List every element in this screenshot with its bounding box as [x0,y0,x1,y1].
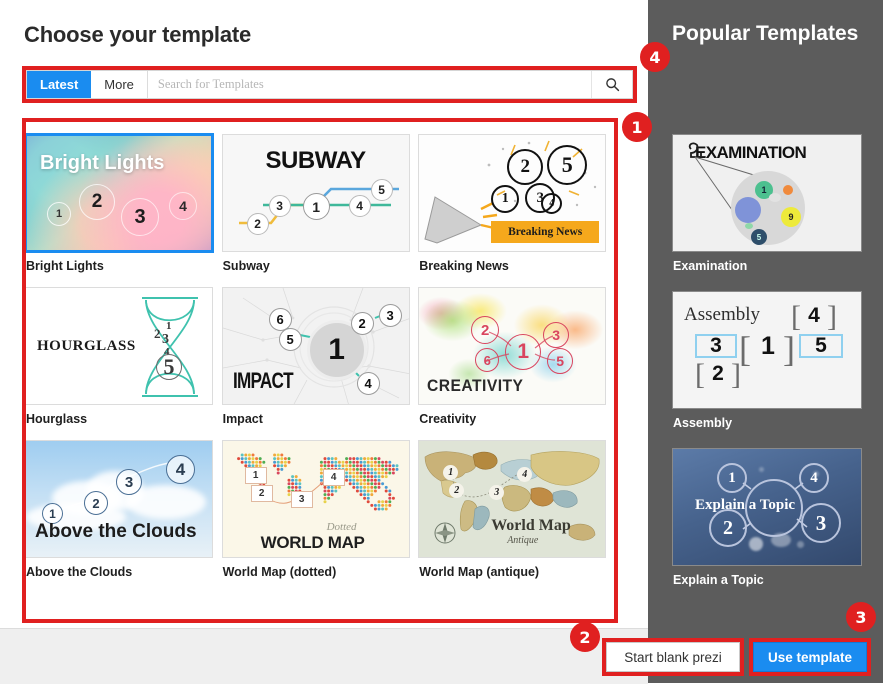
step-number-2: 2 [154,326,161,342]
template-caption: Bright Lights [26,259,214,273]
search-icon [605,77,620,92]
step-number-4: 4 [169,192,197,220]
template-thumbnail[interactable]: 2 1 3 5 6 CREATIVITY [418,287,606,405]
step-number-5: 5 [547,348,573,374]
step-number-1: 1 [166,320,172,332]
tab-more[interactable]: More [91,71,147,98]
template-caption: Creativity [419,412,607,426]
template-thumbnail[interactable]: SUBWAY 3 1 4 5 2 [222,134,410,252]
template-thumbnail[interactable]: 1 2 3 4 Above the Clouds [25,440,213,558]
step-number-3: 3 [695,334,737,358]
specimen-blob-gray [769,193,781,202]
step-number-1: 1 [303,193,330,220]
page-title: Choose your template [24,22,251,48]
art-title: Explain a Topic [695,497,795,514]
art-subtitle: Antique [507,535,538,546]
template-caption: Breaking News [419,259,607,273]
template-caption: Impact [223,412,411,426]
template-row: HOURGLASS 1 2 3 [25,287,615,440]
bracket-left-2: [ [695,358,705,392]
tab-latest[interactable]: Latest [27,71,91,98]
template-thumbnail[interactable]: HOURGLASS 1 2 3 [25,287,213,405]
art-subtitle: Dotted [327,521,357,533]
assembly-art: Assembly [ 4 ] 3 [ 1 ] 5 [ 2 ] [673,292,861,408]
art-title: CREATIVITY [427,376,523,396]
popular-caption: Explain a Topic [673,573,862,587]
specimen-blob-blue [735,197,761,223]
popular-title: Popular Templates [672,22,858,46]
bracket-right-4: ] [827,300,837,334]
step-number-3: 3 [543,322,569,348]
above-the-clouds-art: 1 2 3 4 Above the Clouds [26,441,212,557]
bracket-right-1: ] [783,328,795,370]
step-number-1: 1 [505,334,541,370]
template-thumbnail[interactable]: 1 6 5 2 3 4 IMPACT [222,287,410,405]
impact-art: 1 6 5 2 3 4 IMPACT [223,288,409,404]
template-card-world-map-dotted[interactable]: 1 2 3 4 Dotted WORLD MAP World Map (dott… [222,440,419,593]
world-map-dotted-art: 1 2 3 4 Dotted WORLD MAP [223,441,409,557]
template-card-impact[interactable]: 1 6 5 2 3 4 IMPACT Impact [222,287,419,440]
step-number-1: 1 [755,332,781,360]
search-field-wrap [147,71,632,98]
annotation-badge-3: 3 [846,602,876,632]
template-grid: Bright Lights 1 2 3 4 Bright Lights SUBW… [25,134,615,593]
step-number-9: 9 [781,207,801,227]
specimen-blob-orange [783,185,793,195]
template-caption: Subway [223,259,411,273]
template-caption: World Map (antique) [419,565,607,579]
step-number-4: 4 [799,463,829,493]
template-row: Bright Lights 1 2 3 4 Bright Lights SUBW… [25,134,615,287]
creativity-art: 2 1 3 5 6 CREATIVITY [419,288,605,404]
template-card-breaking-news[interactable]: 2 5 1 3 4 Breaking News Breaking News [418,134,615,287]
step-number-3: 3 [269,195,291,217]
popular-card-explain-a-topic[interactable]: 1 4 2 3 Explain a Topic Explain a Topic [672,448,862,587]
step-number-2: 2 [709,509,747,547]
bracket-right-2: ] [731,358,741,392]
art-title: Bright Lights [40,152,164,175]
step-number-5: 5 [279,328,302,351]
step-number-1: 1 [717,463,747,493]
step-number-5: 5 [156,354,182,380]
hourglass-art: HOURGLASS 1 2 3 [26,288,212,404]
step-number-3: 3 [291,491,313,508]
template-thumbnail[interactable]: 1 2 3 4 Dotted WORLD MAP [222,440,410,558]
template-caption: Hourglass [26,412,214,426]
step-number-2: 2 [471,316,499,344]
template-card-subway[interactable]: SUBWAY 3 1 4 5 2 [222,134,419,287]
search-input[interactable] [148,71,591,98]
step-number-3: 3 [379,304,402,327]
step-number-3: 3 [121,198,159,236]
art-title: World Map [491,517,571,535]
step-number-2: 2 [507,149,543,185]
step-number-2: 2 [709,362,727,386]
step-number-4: 4 [357,372,380,395]
art-title: Assembly [684,304,760,326]
annotation-badge-2: 2 [570,622,600,652]
template-card-above-the-clouds[interactable]: 1 2 3 4 Above the Clouds Above the Cloud… [25,440,222,593]
step-number-2: 2 [84,491,108,515]
step-number-4: 4 [166,455,195,484]
template-thumbnail[interactable]: 1 2 3 4 World Map Antique [418,440,606,558]
step-number-5: 5 [751,229,767,245]
step-number-3: 3 [116,469,142,495]
popular-thumbnail[interactable]: Assembly [ 4 ] 3 [ 1 ] 5 [ 2 ] [672,291,862,409]
popular-list: EXAMINATION 1 9 5 [672,134,862,605]
template-card-world-map-antique[interactable]: 1 2 3 4 World Map Antique World Map (ant… [418,440,615,593]
popular-card-assembly[interactable]: Assembly [ 4 ] 3 [ 1 ] 5 [ 2 ] [672,291,862,430]
step-number-2: 2 [351,312,374,335]
step-number-5: 5 [547,145,587,185]
template-card-hourglass[interactable]: HOURGLASS 1 2 3 [25,287,222,440]
step-number-1: 1 [245,467,267,484]
search-toolbar: Latest More [26,70,633,99]
popular-caption: Examination [673,259,862,273]
art-title: WORLD MAP [261,533,365,553]
template-thumbnail[interactable]: Bright Lights 1 2 3 4 [25,134,213,252]
template-thumbnail[interactable]: 2 5 1 3 4 Breaking News [418,134,606,252]
annotation-badge-1: 1 [622,112,652,142]
step-number-5: 5 [799,334,843,358]
popular-thumbnail[interactable]: EXAMINATION 1 9 5 [672,134,862,252]
popular-caption: Assembly [673,416,862,430]
footer-bar [0,628,648,684]
start-blank-prezi-button[interactable]: Start blank prezi [606,642,740,672]
examination-art: EXAMINATION 1 9 5 [673,135,861,251]
template-caption: Above the Clouds [26,565,214,579]
popular-card-examination[interactable]: EXAMINATION 1 9 5 [672,134,862,273]
template-row: 1 2 3 4 Above the Clouds Above the Cloud… [25,440,615,593]
template-chooser-pane: Choose your template Latest More [0,0,648,683]
step-number-1: 1 [47,202,71,226]
breaking-news-banner: Breaking News [491,221,599,243]
art-title: IMPACT [233,368,293,394]
subway-art: SUBWAY 3 1 4 5 2 [223,135,409,251]
step-number-4: 4 [349,195,371,217]
hourglass-shape [26,288,213,405]
step-number-3: 3 [801,503,841,543]
step-number-6: 6 [475,348,499,372]
step-number-1: 1 [491,185,519,213]
popular-templates-pane: Popular Templates EXAMINATION 1 9 [648,0,883,683]
search-button[interactable] [591,71,632,98]
step-number-2: 2 [251,485,273,502]
template-card-bright-lights[interactable]: Bright Lights 1 2 3 4 Bright Lights [25,134,222,287]
breaking-news-art: 2 5 1 3 4 Breaking News [419,135,605,251]
step-number-4: 4 [805,304,823,328]
template-card-creativity[interactable]: 2 1 3 5 6 CREATIVITY Creativity [418,287,615,440]
annotation-badge-4: 4 [640,42,670,72]
step-number-2: 2 [247,213,269,235]
step-number-5: 5 [371,179,393,201]
use-template-button[interactable]: Use template [753,642,867,672]
template-caption: World Map (dotted) [223,565,411,579]
specimen-blob-green [745,223,753,229]
step-number-2: 2 [79,184,115,220]
bright-lights-art: Bright Lights 1 2 3 4 [27,136,211,250]
step-number-4: 4 [323,469,345,486]
art-title: Above the Clouds [35,521,197,543]
world-map-antique-art: 1 2 3 4 World Map Antique [419,441,605,557]
popular-thumbnail[interactable]: 1 4 2 3 Explain a Topic [672,448,862,566]
explain-a-topic-art: 1 4 2 3 Explain a Topic [673,449,861,565]
